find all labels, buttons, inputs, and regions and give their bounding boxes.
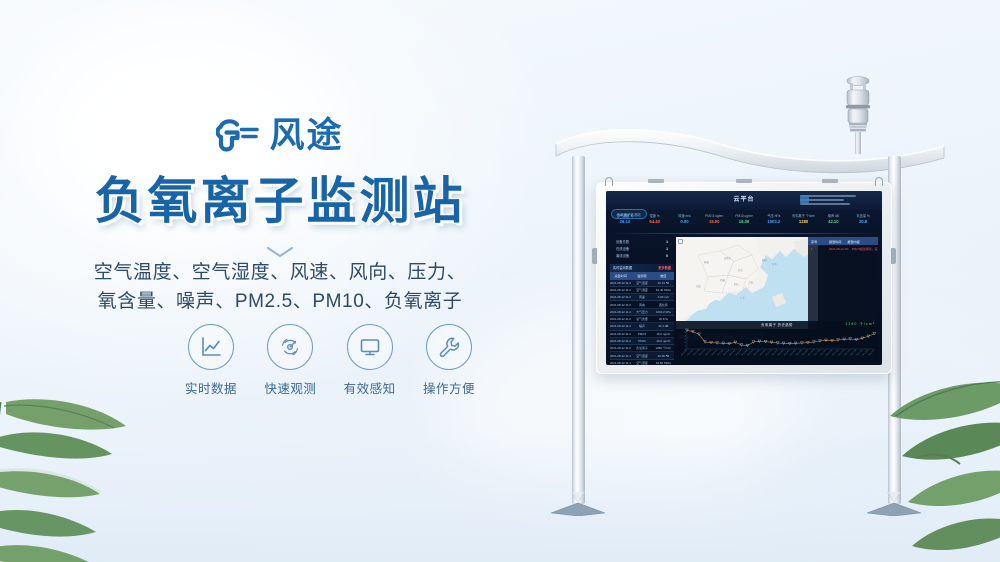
table-cell: 26.13 ℃ (653, 280, 674, 286)
dashboard-screen[interactable]: 云平台 负氧离子监测站 空气温度 ℃26.13湿度 %64.40风速 m/s0.… (606, 191, 882, 365)
device-count-label: 设备总数 (616, 239, 629, 246)
kpi-stat: 风速 m/s0.00 (670, 214, 700, 233)
kpi-stat: 噪声 dB42.10 (818, 214, 848, 233)
device-count-value: 1 (666, 239, 668, 246)
alarm-column-header: 报警时间 (826, 237, 844, 245)
marketing-text-panel: 风途 负氧离子监测站 空气温度、空气湿度、风速、风向、压力、 氧含量、噪声、PM… (0, 0, 560, 562)
alarm-column-header: 序号 (808, 237, 826, 245)
svg-text:广东: 广东 (740, 296, 745, 300)
table-cell: 西北风 (653, 301, 674, 307)
kpi-stat-row: 空气温度 ℃26.13湿度 %64.40风速 m/s0.00PM2.5 ug/m… (610, 214, 878, 233)
feature-item-easy-operation: 操作方便 (418, 324, 480, 397)
table-cell: 2021-08-12 11:20:00 (610, 287, 631, 293)
device-count-item: 在线设备1 (616, 246, 668, 253)
monitoring-station-kiosk: 云平台 负氧离子监测站 空气温度 ℃26.13湿度 %64.40风速 m/s0.… (520, 60, 960, 530)
enclosure-side-latch-left (592, 248, 597, 264)
table-cell: 风速 (631, 294, 652, 300)
left-data-column: 设备总数1在线设备1离线设备0 实时监测数据 更多数据 采集时间监测项数值 20… (610, 237, 674, 361)
map-zoom-icon[interactable] (678, 239, 683, 244)
table-cell: 大气压力 (631, 309, 652, 315)
kpi-value: 1003.2 (759, 219, 789, 226)
table-cell: 2021-08-12 11:10:00 (610, 360, 631, 365)
svg-text:4: 4 (685, 336, 686, 338)
table-cell: 26.05 ℃ (653, 352, 674, 358)
table-cell: 15.0 ug/m³ (653, 331, 674, 337)
table-row[interactable]: 2021-08-12 11:20:00空气湿度64.40 %RH (610, 287, 674, 294)
kpi-stat: 氧含量 %20.8 (848, 214, 878, 233)
feature-icon-circle (347, 324, 393, 370)
table-cell: 2021-08-12 11:20:00 (610, 301, 631, 307)
subtitle-line-2: 氧含量、噪声、PM2.5、PM10、负氧离子 (0, 287, 560, 316)
alarm-panel-header: 序号报警时间报警内容 (808, 237, 878, 245)
page-title: 负氧离子监测站 (0, 176, 560, 226)
table-row[interactable]: 2021-08-12 11:20:00氧气含量20.8 % (610, 316, 674, 323)
kpi-value: 15.00 (699, 219, 729, 226)
table-cell: 负氧离子 (631, 345, 652, 351)
kpi-value: 1280 (789, 219, 819, 226)
table-cell: 64.82 %RH (653, 360, 674, 365)
kpi-stat: PM2.5 ug/m³15.00 (699, 214, 729, 233)
table-row[interactable]: 2021-08-12 11:20:00风速0.00 m/s (610, 294, 674, 301)
feature-label: 快速观测 (259, 378, 321, 397)
mount-clip (736, 179, 752, 183)
table-row[interactable]: 2021-08-12 11:10:00空气湿度64.82 %RH (610, 360, 674, 365)
svg-text:内蒙古: 内蒙古 (724, 256, 732, 260)
table-cell: 空气湿度 (631, 287, 652, 293)
svg-text:西藏: 西藏 (720, 278, 725, 282)
support-post-left (572, 156, 585, 504)
kpi-value: 19.00 (729, 219, 759, 226)
feature-item-fast-observation: 快速观测 (259, 324, 321, 397)
monitor-screen-icon (358, 335, 382, 359)
feature-list: 实时数据 快速观测 (180, 324, 480, 397)
device-count-value: 1 (666, 246, 668, 253)
table-cell: 2021-08-12 11:20:00 (610, 338, 631, 344)
data-table-body: 2021-08-12 11:20:00空气温度26.13 ℃2021-08-12… (610, 280, 674, 365)
table-cell: 2021-08-12 11:20:00 (610, 316, 631, 322)
poster-canvas: 风途 负氧离子监测站 空气温度、空气湿度、风速、风向、压力、 氧含量、噪声、PM… (0, 0, 1000, 562)
svg-text:2: 2 (685, 342, 686, 344)
svg-text:3: 3 (685, 339, 686, 341)
table-row[interactable]: 2021-08-12 11:20:00负氧离子1280 个/cm³ (610, 345, 674, 352)
feature-label: 操作方便 (418, 378, 480, 397)
table-cell: 19.0 ug/m³ (653, 338, 674, 344)
more-data-link[interactable]: 更多数据 (658, 265, 671, 270)
data-table-column-header: 采集时间 (610, 272, 631, 280)
table-cell: 风向 (631, 301, 652, 307)
feature-icon-circle (267, 324, 313, 370)
table-row[interactable]: 2021-08-12 11:20:00大气压力1003.2 hPa (610, 309, 674, 316)
table-cell: 2021-08-12 11:20:00 (610, 294, 631, 300)
brand-name: 风途 (269, 118, 343, 153)
feature-item-realtime-data: 实时数据 (180, 324, 242, 397)
chart-plot-area: 01234508-12 00:0008-12 00:3008-12 01:000… (676, 327, 878, 358)
device-count-label: 在线设备 (616, 246, 629, 253)
svg-text:5: 5 (685, 332, 686, 334)
svg-text:北京: 北京 (738, 268, 743, 272)
data-table-column-header: 数值 (653, 272, 674, 280)
chart-svg: 01234508-12 00:0008-12 00:3008-12 01:000… (676, 327, 878, 358)
weather-symbol-icon (800, 195, 809, 204)
table-cell: 2021-08-12 11:20:00 (610, 345, 631, 351)
kpi-stat: 湿度 %64.40 (640, 214, 670, 233)
table-cell: 2021-08-12 11:20:00 (610, 323, 631, 329)
device-count-value: 0 (666, 253, 668, 260)
kpi-stat: 负氧离子 个/cm³1280 (789, 214, 819, 233)
table-cell: 空气温度 (631, 280, 652, 286)
data-table-title: 实时监测数据 (613, 265, 632, 270)
table-cell: 2021-08-12 11:20:00 (610, 280, 631, 286)
table-cell: 空气温度 (631, 352, 652, 358)
kpi-value: 64.40 (640, 219, 670, 226)
svg-text:韩国: 韩国 (762, 258, 767, 262)
table-cell: 噪声 (631, 323, 652, 329)
weather-widget-icon (800, 193, 876, 208)
svg-text:四川: 四川 (734, 283, 739, 286)
table-cell: 20.8 % (653, 316, 674, 322)
kpi-value: 42.10 (818, 219, 848, 226)
kpi-value: 20.8 (848, 219, 878, 226)
alarm-column-header: 报警内容 (844, 237, 862, 245)
kpi-stat: 气压 hPa1003.2 (759, 214, 789, 233)
table-cell: PM10 (631, 338, 652, 344)
table-cell: 2021-08-12 11:20:00 (610, 331, 631, 337)
table-row[interactable]: 2021-08-12 11:20:00PM1019.0 ug/m³ (610, 338, 674, 345)
kpi-stat: PM10 ug/m³19.00 (729, 214, 759, 233)
alarm-cell: 1 (808, 245, 826, 252)
brand-logo: 风途 (0, 117, 560, 153)
feature-icon-circle (188, 324, 234, 370)
table-cell: 42.1 dB (653, 323, 674, 329)
table-cell: 氧气含量 (631, 316, 652, 322)
table-row[interactable]: 2021-08-12 11:10:00空气温度26.05 ℃ (610, 352, 674, 359)
map-landmass: 新疆内蒙古 北京西藏 四川上海 广东印度 日本韩国 (676, 237, 818, 329)
feature-icon-circle (426, 324, 472, 370)
alarm-cell: 2021-08-12 09:41:22 (826, 245, 849, 252)
mount-clip (648, 179, 664, 183)
svg-text:新疆: 新疆 (704, 260, 709, 264)
alarm-panel-body: 12021-08-12 09:41:22PM2.5超出阈值，请及时处理 (808, 245, 878, 252)
display-enclosure: 云平台 负氧离子监测站 空气温度 ℃26.13湿度 %64.40风速 m/s0.… (596, 182, 892, 374)
table-cell: 0.00 m/s (653, 294, 674, 300)
enclosure-side-latch-right (891, 248, 896, 264)
base-plate-right (865, 492, 923, 516)
subtitle-line-1: 空气温度、空气湿度、风速、风向、压力、 (0, 258, 560, 287)
mount-hook-left (605, 177, 613, 186)
kpi-value: 0.00 (670, 219, 700, 226)
svg-text:日本: 日本 (772, 262, 777, 266)
svg-text:1: 1 (685, 346, 686, 348)
alarm-row[interactable]: 12021-08-12 09:41:22PM2.5超出阈值，请及时处理 (808, 245, 878, 252)
header-divider (610, 233, 878, 234)
table-row[interactable]: 2021-08-12 11:20:00空气温度26.13 ℃ (610, 280, 674, 287)
table-cell: 1280 个/cm³ (653, 345, 674, 351)
base-plate-left (549, 492, 607, 516)
device-count-label: 离线设备 (616, 253, 629, 260)
wind-cloud-logo-icon (216, 117, 260, 153)
feature-label: 实时数据 (180, 378, 242, 397)
line-chart-icon (199, 335, 223, 359)
svg-text:08-12 15:30: 08-12 15:30 (868, 349, 875, 356)
data-table-columns: 采集时间监测项数值 (610, 272, 674, 280)
device-count-stats: 设备总数1在线设备1离线设备0 (610, 237, 674, 264)
table-cell: PM2.5 (631, 331, 652, 337)
table-cell: 2021-08-12 11:10:00 (610, 352, 631, 358)
svg-text:上海: 上海 (748, 280, 753, 284)
table-row[interactable]: 2021-08-12 11:20:00PM2.515.0 ug/m³ (610, 331, 674, 338)
table-row[interactable]: 2021-08-12 11:20:00噪声42.1 dB (610, 323, 674, 330)
table-cell: 1003.2 hPa (653, 309, 674, 315)
table-cell: 2021-08-12 11:20:00 (610, 309, 631, 315)
mount-clip (822, 179, 838, 183)
table-cell: 空气湿度 (631, 360, 652, 365)
device-count-item: 设备总数1 (616, 239, 668, 246)
radar-signal-icon (278, 335, 302, 359)
svg-text:印度: 印度 (696, 284, 701, 288)
data-table-column-header: 监测项 (631, 272, 652, 280)
kpi-stat: 空气温度 ℃26.13 (610, 214, 640, 233)
mount-hook-right (875, 177, 883, 186)
feature-item-effective-sensing: 有效感知 (339, 324, 401, 397)
kpi-value: 26.13 (610, 219, 640, 226)
sensor-list-subtitle: 空气温度、空气湿度、风速、风向、压力、 氧含量、噪声、PM2.5、PM10、负氧… (0, 258, 560, 317)
history-trend-chart: 负氧离子 历史趋势 1280 个/cm³ 01234508-12 00:0008… (676, 321, 878, 361)
wrench-tool-icon (437, 335, 461, 359)
data-table-header: 实时监测数据 更多数据 (610, 264, 674, 272)
china-map[interactable]: 新疆内蒙古 北京西藏 四川上海 广东印度 日本韩国 (676, 237, 818, 329)
device-count-item: 离线设备0 (616, 253, 668, 260)
alarm-cell: PM2.5超出阈值，请及时处理 (849, 245, 878, 252)
table-row[interactable]: 2021-08-12 11:20:00风向西北风 (610, 301, 674, 308)
feature-label: 有效感知 (339, 378, 401, 397)
table-cell: 64.40 %RH (653, 287, 674, 293)
